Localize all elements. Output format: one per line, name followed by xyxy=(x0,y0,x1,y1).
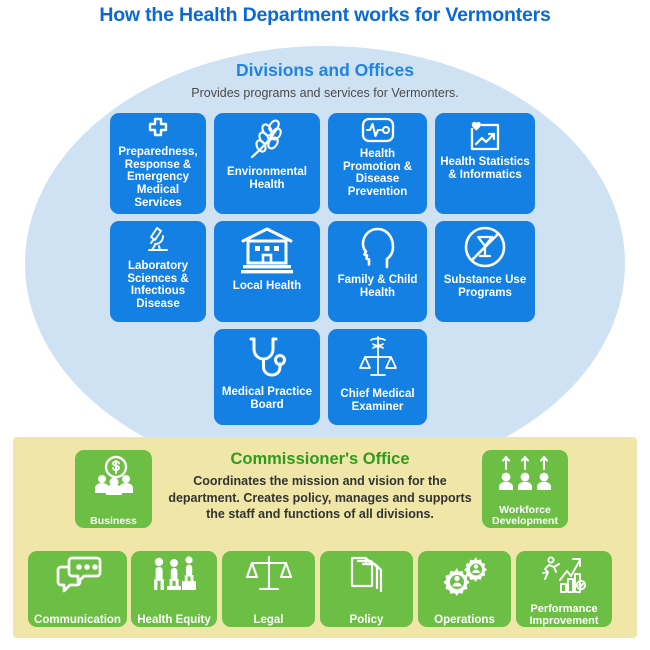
gears-people-icon xyxy=(440,555,490,602)
division-tile-label: Health Statistics & Informatics xyxy=(435,156,535,181)
division-tile-environmental-health[interactable]: Environmental Health xyxy=(214,113,320,214)
office-tile-label: Legal xyxy=(222,614,315,627)
office-tile-label: Performance Improvement xyxy=(516,603,612,627)
division-tile-laboratory-sciences[interactable]: Laboratory Sciences & Infectious Disease xyxy=(110,221,206,322)
office-tile-business[interactable]: Business xyxy=(75,450,152,528)
office-tile-label: Operations xyxy=(418,614,511,627)
microscope-icon xyxy=(143,225,173,260)
division-tile-substance-use-programs[interactable]: Substance Use Programs xyxy=(435,221,535,322)
office-tile-label: Business xyxy=(75,516,152,528)
division-tile-label: Environmental Health xyxy=(214,166,320,191)
division-tile-local-health[interactable]: Local Health xyxy=(214,221,320,322)
office-tile-operations[interactable]: Operations xyxy=(418,551,511,627)
office-tile-label: Health Equity xyxy=(131,614,217,627)
office-tile-communication[interactable]: Communication xyxy=(28,551,127,627)
division-tile-family-child-health[interactable]: Family & Child Health xyxy=(328,221,427,322)
commissioner-office-description: Coordinates the mission and vision for t… xyxy=(158,473,482,523)
division-tile-health-statistics[interactable]: Health Statistics & Informatics xyxy=(435,113,535,214)
division-tile-chief-medical-examiner[interactable]: Chief Medical Examiner xyxy=(328,329,427,425)
caduceus-scales-icon xyxy=(358,335,398,388)
building-icon xyxy=(239,225,295,280)
division-tile-medical-practice-board[interactable]: Medical Practice Board xyxy=(214,329,320,425)
office-tile-health-equity[interactable]: Health Equity xyxy=(131,551,217,627)
division-tile-label: Family & Child Health xyxy=(328,274,427,299)
speech-bubbles-icon xyxy=(54,555,102,600)
office-tile-performance-improvement[interactable]: Performance Improvement xyxy=(516,551,612,627)
wheat-plant-icon xyxy=(247,117,287,166)
documents-icon xyxy=(346,555,388,602)
chart-heart-icon xyxy=(468,121,502,156)
office-tile-workforce-development[interactable]: Workforce Development xyxy=(482,450,568,528)
divisions-subtitle: Provides programs and services for Vermo… xyxy=(0,86,650,100)
division-tile-label: Chief Medical Examiner xyxy=(328,388,427,413)
division-tile-preparedness[interactable]: Preparedness, Response & Emergency Medic… xyxy=(110,113,206,214)
division-tile-label: Health Promotion & Disease Prevention xyxy=(328,148,427,199)
medical-cross-icon xyxy=(145,117,171,146)
no-alcohol-icon xyxy=(463,225,507,274)
office-tile-label: Workforce Development xyxy=(482,505,568,528)
office-tile-label: Policy xyxy=(320,614,413,627)
office-tile-policy[interactable]: Policy xyxy=(320,551,413,627)
page-title: How the Health Department works for Verm… xyxy=(0,4,650,27)
running-chart-icon xyxy=(540,554,588,599)
stethoscope-icon xyxy=(246,335,288,386)
scales-icon xyxy=(246,555,292,600)
people-platforms-icon xyxy=(150,555,198,600)
heartbeat-monitor-icon xyxy=(361,117,395,148)
divisions-heading: Divisions and Offices xyxy=(0,60,650,81)
commissioner-office-heading: Commissioner's Office xyxy=(170,450,470,469)
division-tile-label: Substance Use Programs xyxy=(435,274,535,299)
people-arrows-up-icon xyxy=(496,455,554,496)
division-tile-label: Medical Practice Board xyxy=(214,386,320,411)
office-tile-legal[interactable]: Legal xyxy=(222,551,315,627)
infographic-canvas: How the Health Department works for Verm… xyxy=(0,0,650,650)
money-people-icon xyxy=(93,455,135,502)
division-tile-label: Local Health xyxy=(214,280,320,293)
head-profile-icon xyxy=(359,225,397,274)
office-tile-label: Communication xyxy=(28,614,127,627)
division-tile-label: Laboratory Sciences & Infectious Disease xyxy=(110,260,206,311)
division-tile-label: Preparedness, Response & Emergency Medic… xyxy=(110,146,206,209)
division-tile-health-promotion[interactable]: Health Promotion & Disease Prevention xyxy=(328,113,427,214)
